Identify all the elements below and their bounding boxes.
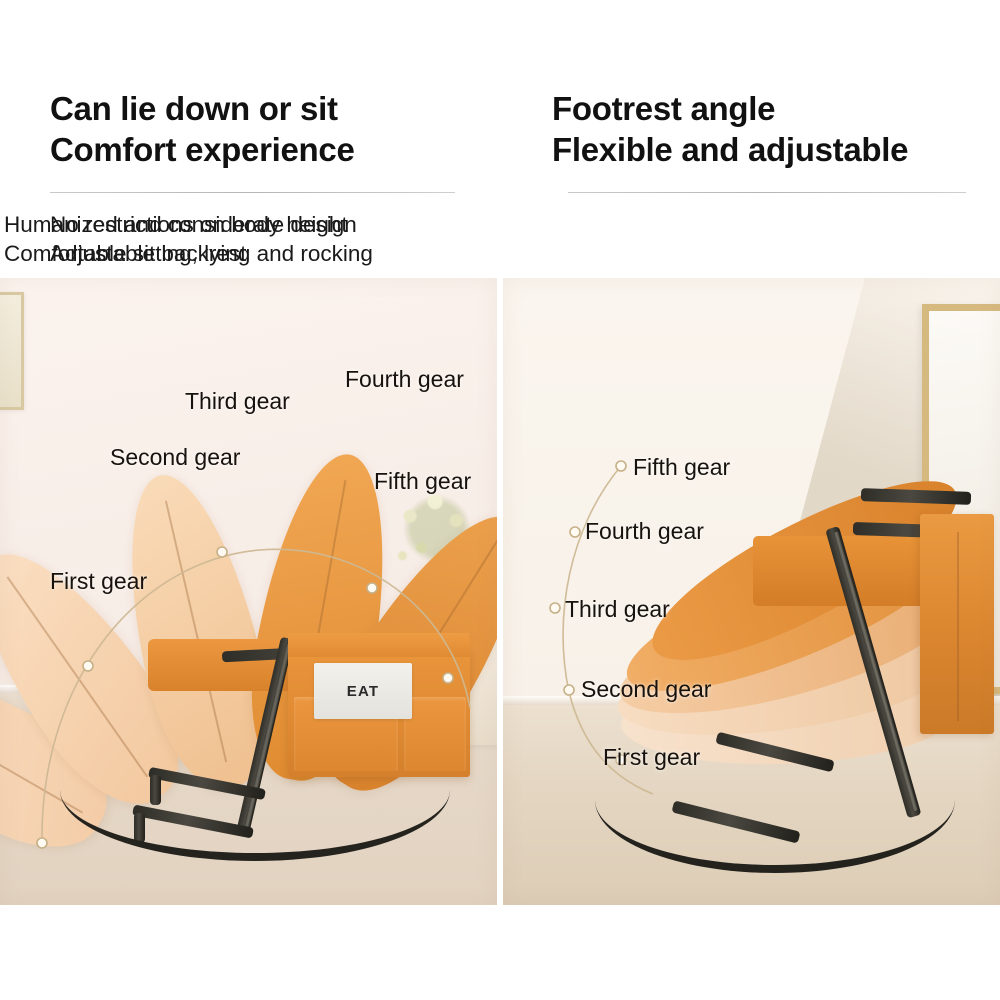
photo-strip: EAT First gear Second gear Third gear Fo… [0,278,1000,905]
right-gear-label-2: Second gear [581,676,711,703]
pocket-compartment-small [404,697,466,771]
left-headline-line2: Comfort experience [50,129,355,170]
left-gear-label-4: Fourth gear [345,366,464,393]
right-gear-label-1: First gear [603,744,700,771]
right-divider-rule [568,192,966,193]
right-subtext-line2: Comfortable sitting, lying and rocking [4,239,373,268]
right-gear-label-4: Fourth gear [585,518,704,545]
right-subtext: Humanized and considerate design Comfort… [4,210,373,268]
right-side-pocket [920,514,994,734]
left-headline-line1: Can lie down or sit [50,88,355,129]
right-headline-line2: Flexible and adjustable [552,129,908,170]
pocket-flap [288,633,470,657]
right-gear-label-3: Third gear [565,596,670,623]
left-photo-scene: EAT First gear Second gear Third gear Fo… [0,278,497,905]
right-product-photo: Fifth gear Fourth gear Third gear Second… [503,278,1000,905]
side-storage-pocket: EAT [288,649,470,777]
left-divider-rule [50,192,455,193]
header-section: Can lie down or sit Comfort experience N… [0,0,1000,278]
pocket-seam [957,532,959,721]
product-feature-page: Can lie down or sit Comfort experience N… [0,0,1000,1000]
left-gear-label-3: Third gear [185,388,290,415]
left-headline: Can lie down or sit Comfort experience [50,88,355,170]
left-gear-label-5: Fifth gear [374,468,471,495]
eat-book-label: EAT [347,683,380,700]
left-gear-label-1: First gear [50,568,147,595]
right-headline-line1: Footrest angle [552,88,908,129]
left-gear-label-2: Second gear [110,444,240,471]
header-column-right: Footrest angle Flexible and adjustable H… [500,0,1000,278]
bottom-white-margin [0,905,1000,1000]
left-product-photo: EAT First gear Second gear Third gear Fo… [0,278,497,905]
right-gear-label-5: Fifth gear [633,454,730,481]
right-subtext-line1: Humanized and considerate design [4,210,373,239]
blade-seam [165,500,227,762]
right-headline: Footrest angle Flexible and adjustable [552,88,908,170]
right-photo-scene: Fifth gear Fourth gear Third gear Second… [503,278,1000,905]
eat-book: EAT [314,663,412,719]
